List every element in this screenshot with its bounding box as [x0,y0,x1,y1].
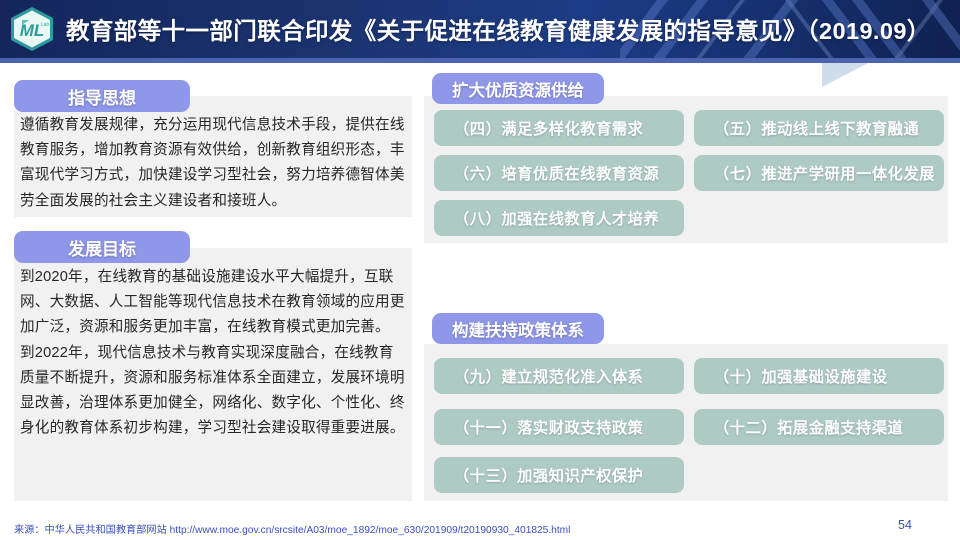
source-note: 来源：中华人民共和国教育部网站 http://www.moe.gov.cn/sr… [14,521,570,536]
right-section1-item-1[interactable]: （四）满足多样化教育需求 [434,110,684,146]
left-section1-pill: 指导思想 [14,80,190,112]
right-section2-pill: 构建扶持政策体系 [432,313,604,344]
header-underline [0,58,960,63]
item-label: （十一）落实财政支持政策 [454,416,643,438]
page-number: 54 [890,518,920,532]
item-label: （六）培育优质在线教育资源 [454,162,659,184]
item-label: （七）推进产学研用一体化发展 [714,162,935,184]
item-label: （八）加强在线教育人才培养 [454,207,659,229]
left-section1-body: 遵循教育发展规律，充分运用现代信息技术手段，提供在线教育服务，增加教育资源有效供… [20,113,408,214]
right-section2-item-3[interactable]: （十一）落实财政支持政策 [434,409,684,445]
right-section2-item-1[interactable]: （九）建立规范化准入体系 [434,358,684,394]
ml-lab-logo: ML Lab [8,6,56,52]
right-section2-item-2[interactable]: （十）加强基础设施建设 [694,358,944,394]
item-label: （十三）加强知识产权保护 [454,464,643,486]
logo-sub: Lab [41,22,50,28]
left-section2-pill: 发展目标 [14,231,190,263]
left-section2-pill-label: 发展目标 [68,235,136,260]
item-label: （十）加强基础设施建设 [714,365,888,387]
right-section1-pill: 扩大优质资源供给 [432,73,604,104]
item-label: （十二）拓展金融支持渠道 [714,416,903,438]
right-section1-item-4[interactable]: （七）推进产学研用一体化发展 [694,155,944,191]
right-section1-item-3[interactable]: （六）培育优质在线教育资源 [434,155,684,191]
right-section2-pill-label: 构建扶持政策体系 [452,317,584,341]
item-label: （五）推动线上线下教育融通 [714,117,919,139]
header-bar: ML Lab 教育部等十一部门联合印发《关于促进在线教育健康发展的指导意见》（2… [0,0,960,58]
item-label: （四）满足多样化教育需求 [454,117,643,139]
right-section2-item-4[interactable]: （十二）拓展金融支持渠道 [694,409,944,445]
left-section1-pill-label: 指导思想 [68,84,136,109]
slide-root: ML Lab 教育部等十一部门联合印发《关于促进在线教育健康发展的指导意见》（2… [0,0,960,540]
page-title: 教育部等十一部门联合印发《关于促进在线教育健康发展的指导意见》（2019.09） [66,0,931,58]
item-label: （九）建立规范化准入体系 [454,365,643,387]
right-section1-item-5[interactable]: （八）加强在线教育人才培养 [434,200,684,236]
corner-triangle-decoration [822,63,868,87]
right-section1-pill-label: 扩大优质资源供给 [452,77,584,101]
right-section2-item-5[interactable]: （十三）加强知识产权保护 [434,457,684,493]
right-section1-item-2[interactable]: （五）推动线上线下教育融通 [694,110,944,146]
left-section2-body: 到2020年，在线教育的基础设施建设水平大幅提升，互联网、大数据、人工智能等现代… [20,265,408,441]
